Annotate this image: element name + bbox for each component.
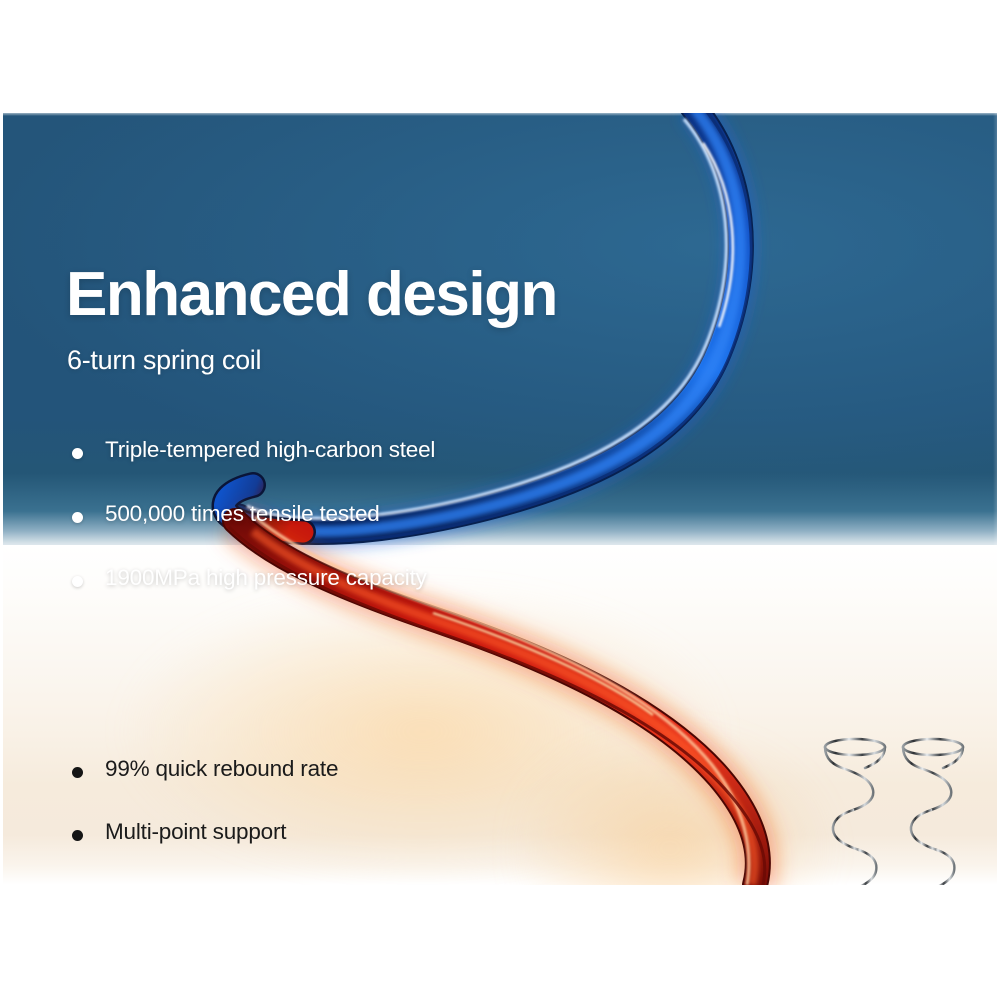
bullet-dot-icon: [72, 512, 83, 523]
feature-label: 1900MPa high pressure capacity: [105, 565, 427, 590]
product-feature-panel: Enhanced design 6-turn spring coil Tripl…: [3, 113, 997, 885]
coil-spring-illustration-1: [819, 733, 891, 885]
page-subtitle: 6-turn spring coil: [67, 345, 261, 376]
list-item: Low sound level: [61, 866, 338, 885]
list-item: Triple-tempered high-carbon steel: [61, 421, 435, 485]
list-item: Multi-point support: [61, 803, 338, 866]
feature-label: Low sound level: [105, 882, 263, 885]
bullet-dot-icon: [72, 576, 83, 587]
infographic-canvas: Enhanced design 6-turn spring coil Tripl…: [0, 0, 1000, 1000]
list-item: 1900MPa high pressure capacity: [61, 549, 435, 613]
feature-list-bottom: 99% quick rebound rate Multi-point suppo…: [61, 740, 338, 885]
bullet-dot-icon: [72, 448, 83, 459]
bullet-dot-icon: [72, 830, 83, 841]
page-title: Enhanced design: [66, 264, 557, 326]
feature-label: Multi-point support: [105, 819, 286, 844]
feature-label: 99% quick rebound rate: [105, 756, 338, 781]
bullet-dot-icon: [72, 767, 83, 778]
coil-spring-illustration-2: [897, 733, 969, 885]
feature-label: Triple-tempered high-carbon steel: [105, 437, 435, 462]
list-item: 500,000 times tensile tested: [61, 485, 435, 549]
feature-label: 500,000 times tensile tested: [105, 501, 380, 526]
list-item: 99% quick rebound rate: [61, 740, 338, 803]
feature-list-top: Triple-tempered high-carbon steel 500,00…: [61, 421, 435, 613]
